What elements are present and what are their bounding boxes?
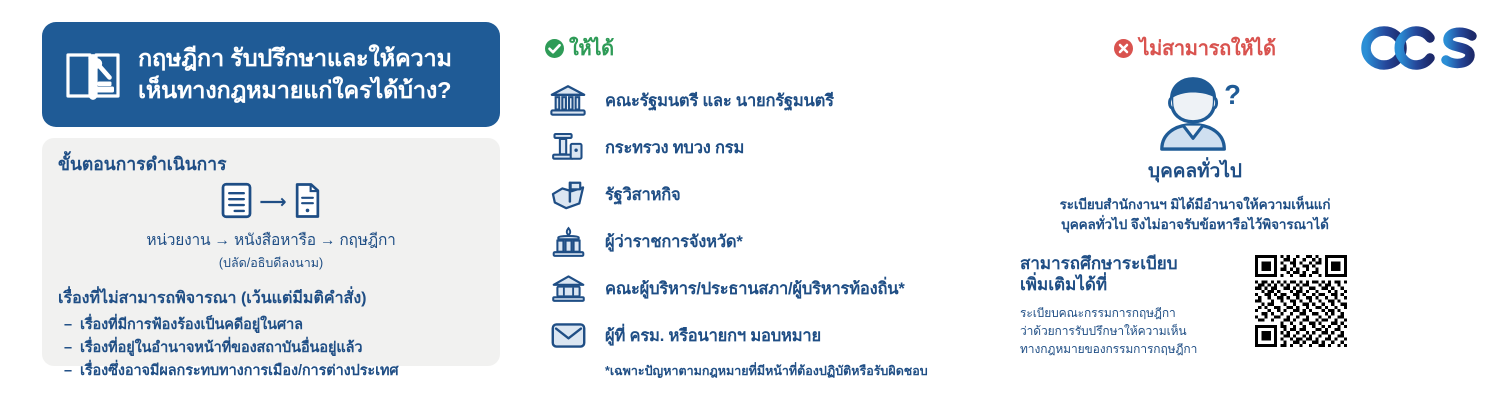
left-column: กฤษฎีกา รับปรึกษาและให้ความ เห็นทางกฎหมา…: [42, 22, 500, 366]
study-ref-line-1: ระเบียบคณะกรรมการกฤษฎีกา: [1020, 305, 1245, 323]
allowed-item-label: คณะรัฐมนตรี และ นายกรัฐมนตรี: [605, 88, 834, 114]
province-hall-icon: [545, 223, 591, 261]
study-heading: สามารถศึกษาระเบียบ เพิ่มเติมได้ที่: [1020, 253, 1245, 297]
exclusion-text: เรื่องที่อยู่ในอำนาจหน้าที่ของสถาบันอื่น…: [80, 340, 362, 356]
list-item: คณะผู้บริหาร/ประธานสภา/ผู้บริหารท้องถิ่น…: [545, 265, 1015, 312]
exclusion-text: เรื่องที่มีการฟ้องร้องเป็นคดีอยู่ในศาล: [80, 317, 303, 333]
list-item: ผู้ว่าราชการจังหวัด*: [545, 218, 1015, 265]
check-circle-icon: [545, 39, 564, 58]
qr-code-icon[interactable]: [1255, 255, 1347, 347]
title-line-1: กฤษฎีกา รับปรึกษาและให้ความ: [138, 45, 452, 71]
allowed-header: ให้ได้: [545, 32, 1015, 64]
dash-bullet: –: [64, 337, 72, 360]
allowed-item-label: คณะผู้บริหาร/ประธานสภา/ผู้บริหารท้องถิ่น…: [605, 276, 905, 302]
person-caption: บุคคลทั่วไป: [1020, 156, 1370, 186]
ministry-pillar-icon: [545, 129, 591, 167]
exclusions-list: –เรื่องที่มีการฟ้องร้องเป็นคดีอยู่ในศาล …: [58, 314, 484, 383]
denied-paragraph-line-1: ระเบียบสำนักงานฯ มิได้มีอำนาจให้ความเห็น…: [1020, 195, 1370, 215]
classical-building-icon: [545, 82, 591, 120]
study-reference-text: ระเบียบคณะกรรมการกฤษฎีกา ว่าด้วยการรับปร…: [1020, 305, 1245, 358]
allowed-column: ให้ได้ คณะรัฐมนตรี แล: [545, 32, 1015, 381]
process-flow-icons: ⟶: [58, 182, 484, 224]
list-item: คณะรัฐมนตรี และ นายกรัฐมนตรี: [545, 77, 1015, 124]
allowed-footnote: *เฉพาะปัญหาตามกฎหมายที่มีหน้าที่ต้องปฏิบ…: [605, 361, 1015, 381]
document-short-icon: [294, 182, 321, 224]
list-item: –เรื่องซึ่งอาจมีผลกระทบทางการเมือง/การต่…: [58, 360, 484, 383]
flag-territory-icon: [545, 176, 591, 214]
exclusion-text: เรื่องซึ่งอาจมีผลกระทบทางการเมือง/การต่า…: [80, 363, 399, 379]
denied-paragraph: ระเบียบสำนักงานฯ มิได้มีอำนาจให้ความเห็น…: [1020, 195, 1370, 236]
svg-text:?: ?: [1224, 79, 1241, 110]
page-title: กฤษฎีกา รับปรึกษาและให้ความ เห็นทางกฎหมา…: [138, 43, 452, 105]
title-banner: กฤษฎีกา รับปรึกษาและให้ความ เห็นทางกฎหมา…: [42, 22, 500, 127]
book-gavel-icon: [62, 44, 124, 106]
title-line-2: เห็นทางกฎหมายแก่ใครได้บ้าง?: [138, 75, 452, 106]
envelope-icon: [545, 317, 591, 355]
document-lines-icon: [221, 182, 252, 224]
list-item: ผู้ที่ ครม. หรือนายกฯ มอบหมาย: [545, 312, 1015, 359]
denied-column: ไม่สามารถให้ได้ ? บุคคลทั่วไป ระเบียบสำน…: [1020, 32, 1370, 358]
allowed-item-label: ผู้ว่าราชการจังหวัด*: [605, 229, 743, 255]
list-item: –เรื่องที่มีการฟ้องร้องเป็นคดีอยู่ในศาล: [58, 314, 484, 337]
allowed-item-label: ผู้ที่ ครม. หรือนายกฯ มอบหมาย: [605, 323, 821, 349]
process-flow-label: หน่วยงาน → หนังสือหารือ → กฤษฎีกา: [58, 227, 484, 252]
dash-bullet: –: [64, 360, 72, 383]
study-more-section: สามารถศึกษาระเบียบ เพิ่มเติมได้ที่ ระเบี…: [1020, 253, 1370, 359]
ocs-logo: [1360, 22, 1482, 74]
list-item: รัฐวิสาหกิจ: [545, 171, 1015, 218]
allowed-item-label: รัฐวิสาหกิจ: [605, 182, 681, 208]
x-circle-icon: [1114, 39, 1133, 58]
study-heading-line-1: สามารถศึกษาระเบียบ: [1020, 253, 1245, 275]
infographic-page: กฤษฎีกา รับปรึกษาและให้ความ เห็นทางกฎหมา…: [0, 0, 1500, 400]
denied-paragraph-line-2: บุคคลทั่วไป จึงไม่อาจรับข้อหารือไว้พิจาร…: [1020, 215, 1370, 235]
study-ref-line-2: ว่าด้วยการรับปรึกษาให้ความเห็น: [1020, 323, 1245, 341]
local-government-icon: [545, 270, 591, 308]
denied-heading: ไม่สามารถให้ได้: [1139, 32, 1275, 64]
denied-header: ไม่สามารถให้ได้: [1020, 32, 1370, 64]
dash-bullet: –: [64, 314, 72, 337]
list-item: –เรื่องที่อยู่ในอำนาจหน้าที่ของสถาบันอื่…: [58, 337, 484, 360]
process-heading: ขั้นตอนการดำเนินการ: [58, 150, 484, 178]
allowed-heading: ให้ได้: [569, 32, 614, 64]
exclusions-heading: เรื่องที่ไม่สามารถพิจารณา (เว้นแต่มีมติค…: [58, 286, 484, 311]
study-ref-line-3: ทางกฎหมายของกรรมการกฤษฎีกา: [1020, 341, 1245, 359]
process-flow-sublabel: (ปลัด/อธิบดีลงนาม): [58, 253, 484, 273]
person-question-icon: ?: [1020, 72, 1370, 152]
process-panel: ขั้นตอนการดำเนินการ ⟶: [42, 138, 500, 366]
arrow-right-icon: ⟶: [259, 193, 286, 212]
study-text-block: สามารถศึกษาระเบียบ เพิ่มเติมได้ที่ ระเบี…: [1020, 253, 1245, 359]
allowed-list: คณะรัฐมนตรี และ นายกรัฐมนตรี กระทรวง ทบว…: [545, 77, 1015, 359]
allowed-item-label: กระทรวง ทบวง กรม: [605, 135, 744, 161]
study-heading-line-2: เพิ่มเติมได้ที่: [1020, 274, 1245, 296]
list-item: กระทรวง ทบวง กรม: [545, 124, 1015, 171]
